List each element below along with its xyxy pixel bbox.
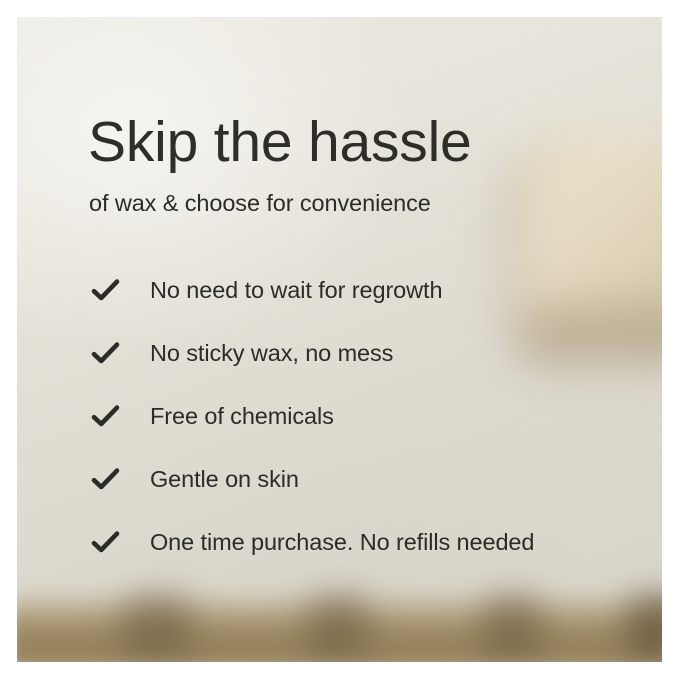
photo-panel: Skip the hassle of wax & choose for conv… xyxy=(17,17,662,662)
headline: Skip the hassle xyxy=(88,113,472,173)
check-icon xyxy=(90,464,121,495)
subheadline: of wax & choose for convenience xyxy=(89,190,431,217)
benefit-item: One time purchase. No refills needed xyxy=(17,511,662,574)
benefit-item: Gentle on skin xyxy=(17,448,662,511)
check-icon xyxy=(90,401,121,432)
benefit-item: Free of chemicals xyxy=(17,385,662,448)
check-icon xyxy=(90,275,121,306)
benefit-item: No sticky wax, no mess xyxy=(17,322,662,385)
benefit-item: No need to wait for regrowth xyxy=(17,259,662,322)
benefit-label: No sticky wax, no mess xyxy=(150,340,393,367)
benefit-list: No need to wait for regrowth No sticky w… xyxy=(17,259,662,574)
check-icon xyxy=(90,527,121,558)
text-overlay: Skip the hassle of wax & choose for conv… xyxy=(17,17,662,662)
benefit-label: No need to wait for regrowth xyxy=(150,277,442,304)
check-icon xyxy=(90,338,121,369)
benefit-label: Free of chemicals xyxy=(150,403,334,430)
benefit-label: One time purchase. No refills needed xyxy=(150,529,534,556)
benefit-label: Gentle on skin xyxy=(150,466,299,493)
product-benefits-image: Skip the hassle of wax & choose for conv… xyxy=(0,0,679,679)
